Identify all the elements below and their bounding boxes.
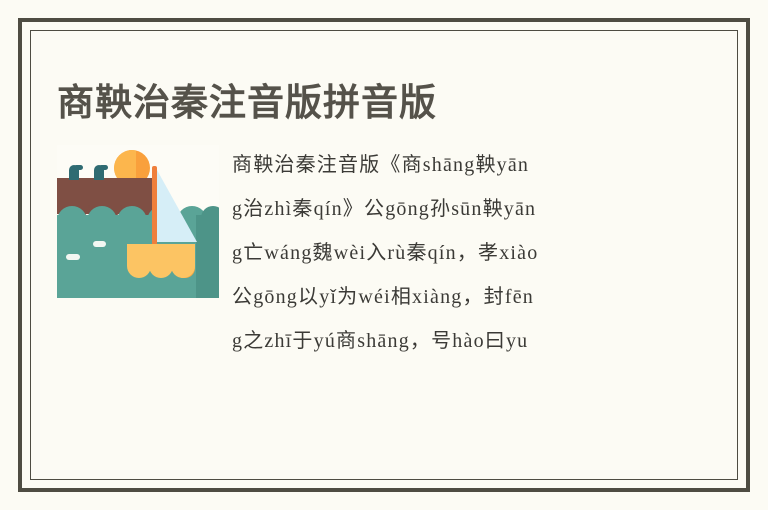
- bollard-icon: [94, 165, 104, 180]
- mast-icon: [152, 166, 157, 246]
- content-area: 商鞅治秦注音版拼音版: [31, 31, 737, 479]
- sail-icon: [157, 170, 197, 242]
- article-line: 公gōng以yǐ为wéi相xiàng，封fēn: [232, 275, 737, 319]
- article-body: 商鞅治秦注音版《商shāng鞅yān g治zhì秦qín》公gōng孙sūn鞅y…: [232, 143, 737, 363]
- boat-hull: [127, 244, 195, 259]
- water-sparkle: [66, 254, 80, 260]
- article-line: g治zhì秦qín》公gōng孙sūn鞅yān: [232, 187, 737, 231]
- water-shade: [196, 215, 219, 298]
- page-root: 商鞅治秦注音版拼音版: [0, 0, 768, 510]
- seaside-pier-sailboat-illustration: [57, 145, 219, 298]
- page-title: 商鞅治秦注音版拼音版: [57, 80, 437, 126]
- boat-hull-bottom: [127, 258, 195, 278]
- article-line: 商鞅治秦注音版《商shāng鞅yān: [232, 143, 737, 187]
- water-sparkle: [93, 241, 106, 247]
- article-line: g亡wáng魏wèi入rù秦qín，孝xiào: [232, 231, 737, 275]
- bollard-icon: [69, 165, 79, 180]
- article-line: g之zhī于yú商shāng，号hào曰yu: [232, 319, 737, 363]
